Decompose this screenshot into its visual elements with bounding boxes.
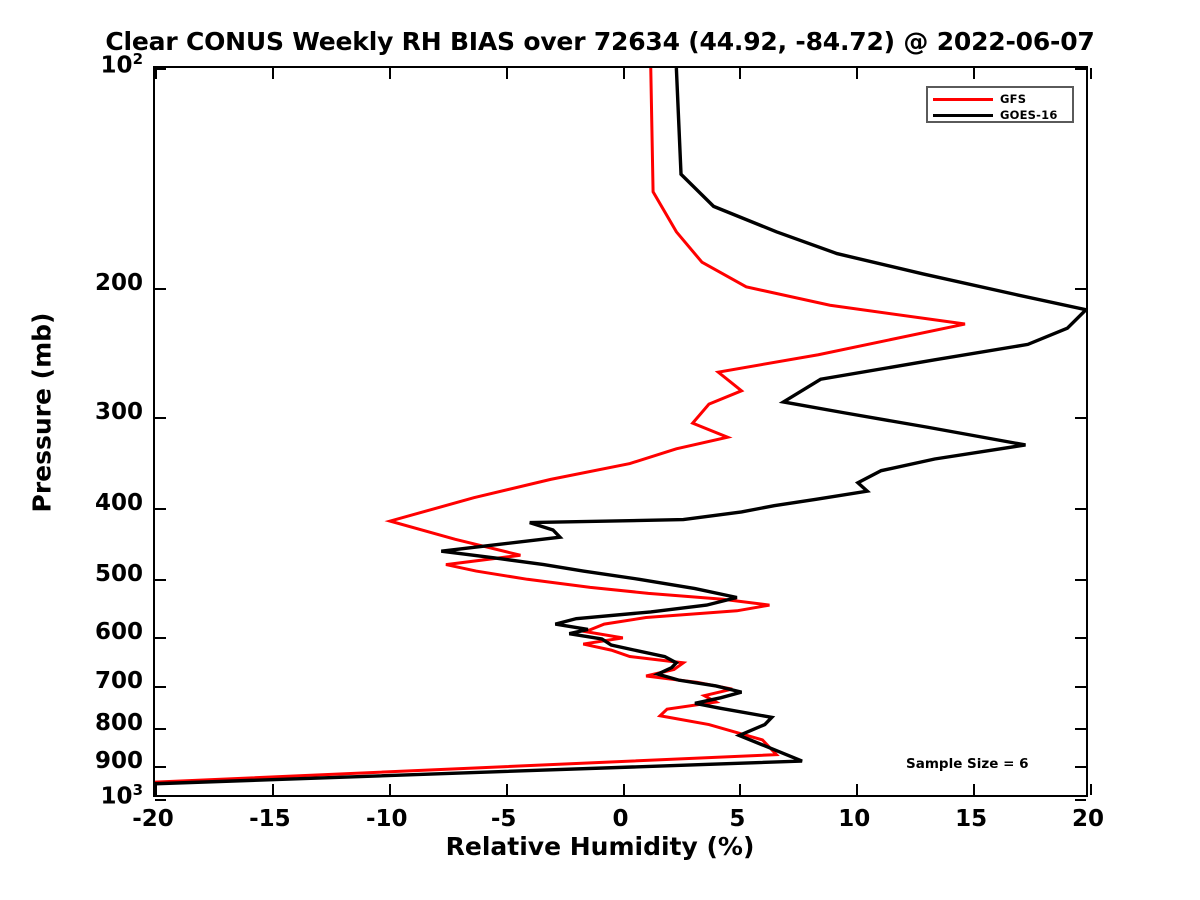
x-tick--5 [506, 68, 508, 79]
y-tick-400 [1075, 508, 1086, 510]
series-line-gfs [155, 68, 965, 782]
y-tick-200 [155, 288, 166, 290]
plot-area [153, 66, 1088, 797]
y-tick-600 [155, 637, 166, 639]
y-tick-label-600: 600 [3, 619, 143, 645]
x-tick-label--20: -20 [93, 806, 213, 832]
x-tick-label-5: 5 [677, 806, 797, 832]
legend-item-gfs[interactable]: GFS [933, 91, 1067, 107]
legend[interactable]: GFS GOES-16 [926, 86, 1074, 123]
x-tick-label-15: 15 [911, 806, 1031, 832]
legend-swatch-gfs-icon [933, 98, 993, 101]
x-tick-5 [739, 784, 741, 795]
x-tick-15 [973, 784, 975, 795]
legend-label-gfs: GFS [1000, 92, 1026, 106]
x-axis-title: Relative Humidity (%) [0, 832, 1200, 861]
y-tick-label-1000: 103 [3, 781, 143, 810]
y-tick-500 [155, 579, 166, 581]
y-tick-900 [155, 766, 166, 768]
x-tick-5 [739, 68, 741, 79]
y-tick-400 [155, 508, 166, 510]
y-tick-label-700: 700 [3, 668, 143, 694]
x-tick-label-0: 0 [561, 806, 681, 832]
x-tick--10 [389, 784, 391, 795]
y-tick-800 [1075, 728, 1086, 730]
plot-canvas [155, 68, 1086, 795]
x-tick--15 [272, 68, 274, 79]
y-tick-100 [1075, 68, 1086, 70]
x-tick--20 [155, 68, 157, 79]
x-tick-10 [856, 784, 858, 795]
y-tick-label-500: 500 [3, 561, 143, 587]
y-tick-label-200: 200 [3, 270, 143, 296]
x-tick-label--5: -5 [444, 806, 564, 832]
y-tick-1000 [155, 799, 166, 801]
legend-swatch-goes16-icon [933, 114, 993, 117]
x-tick-0 [623, 68, 625, 79]
y-axis-title: Pressure (mb) [28, 263, 57, 563]
y-tick-label-800: 800 [3, 710, 143, 736]
legend-item-goes16[interactable]: GOES-16 [933, 107, 1067, 123]
sample-size-annotation: Sample Size = 6 [906, 756, 1029, 772]
x-tick-20 [1090, 784, 1092, 795]
chart-title: Clear CONUS Weekly RH BIAS over 72634 (4… [0, 27, 1200, 56]
y-tick-800 [155, 728, 166, 730]
y-tick-300 [155, 417, 166, 419]
y-tick-900 [1075, 766, 1086, 768]
x-tick--5 [506, 784, 508, 795]
legend-label-goes16: GOES-16 [1000, 108, 1058, 122]
y-tick-label-300: 300 [3, 399, 143, 425]
y-tick-200 [1075, 288, 1086, 290]
x-tick-label--10: -10 [327, 806, 447, 832]
y-tick-300 [1075, 417, 1086, 419]
y-tick-500 [1075, 579, 1086, 581]
x-tick-label--15: -15 [210, 806, 330, 832]
x-tick-15 [973, 68, 975, 79]
y-tick-label-900: 900 [3, 748, 143, 774]
x-tick-label-20: 20 [1028, 806, 1148, 832]
figure-root: Clear CONUS Weekly RH BIAS over 72634 (4… [0, 0, 1200, 900]
y-tick-600 [1075, 637, 1086, 639]
y-tick-1000 [1075, 799, 1086, 801]
x-tick-label-10: 10 [794, 806, 914, 832]
x-tick--20 [155, 784, 157, 795]
y-tick-700 [155, 686, 166, 688]
series-line-goes-16 [155, 68, 1086, 784]
y-tick-700 [1075, 686, 1086, 688]
x-tick-0 [623, 784, 625, 795]
x-tick--15 [272, 784, 274, 795]
series-layer [155, 68, 1086, 784]
x-tick-10 [856, 68, 858, 79]
y-tick-label-400: 400 [3, 490, 143, 516]
x-tick--10 [389, 68, 391, 79]
x-tick-20 [1090, 68, 1092, 79]
